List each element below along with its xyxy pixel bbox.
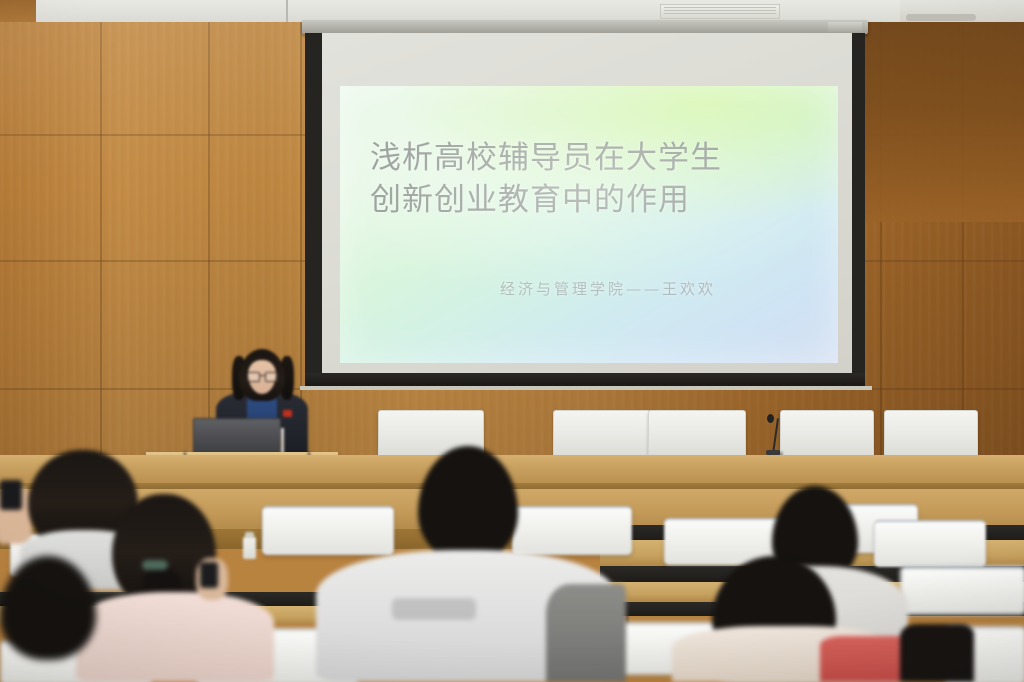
audience-chair <box>900 566 1024 615</box>
projector-screen-weight-bar <box>305 373 865 387</box>
slide-glare <box>340 86 838 363</box>
audience-shoulders <box>76 592 274 682</box>
stage-chair-2 <box>553 410 651 458</box>
hair-tie-icon <box>142 560 168 570</box>
audience-bag <box>900 624 974 682</box>
ceiling-vent-grille <box>660 4 780 19</box>
slide-title: 浅析高校辅导员在大学生 创新创业教育中的作用 <box>370 138 810 221</box>
stage-chair-3 <box>648 410 746 458</box>
stage-chair-5 <box>884 410 978 458</box>
slide-title-line-2: 创新创业教育中的作用 <box>370 180 810 222</box>
water-bottle <box>243 537 256 559</box>
projector-screen-bottom-lip <box>300 386 872 390</box>
audience-arm <box>546 584 626 682</box>
projector-screen-housing <box>302 20 868 34</box>
projector-screen-housing-cap <box>828 22 862 32</box>
mobile-phone-icon <box>200 562 218 588</box>
lecture-hall-photo: 浅析高校辅导员在大学生 创新创业教育中的作用 经济与管理学院——王欢欢 <box>0 0 1024 682</box>
slide-title-line-1: 浅析高校辅导员在大学生 <box>370 138 810 180</box>
presenter-badge <box>283 410 292 417</box>
stage-chair-4 <box>780 410 874 458</box>
projected-slide: 浅析高校辅导员在大学生 创新创业教育中的作用 经济与管理学院——王欢欢 <box>340 86 838 363</box>
wall-right-dark-section <box>862 22 1024 222</box>
microphone-head-icon <box>767 414 774 423</box>
audience-chair <box>262 506 394 555</box>
ceiling-pipe <box>906 14 976 21</box>
slide-subtitle: 经济与管理学院——王欢欢 <box>500 278 830 299</box>
glasses-icon <box>247 372 277 380</box>
hoodie-logo <box>392 598 476 620</box>
audience-chair <box>512 506 632 555</box>
audience-chair <box>874 520 986 567</box>
mobile-phone-icon <box>0 480 22 510</box>
